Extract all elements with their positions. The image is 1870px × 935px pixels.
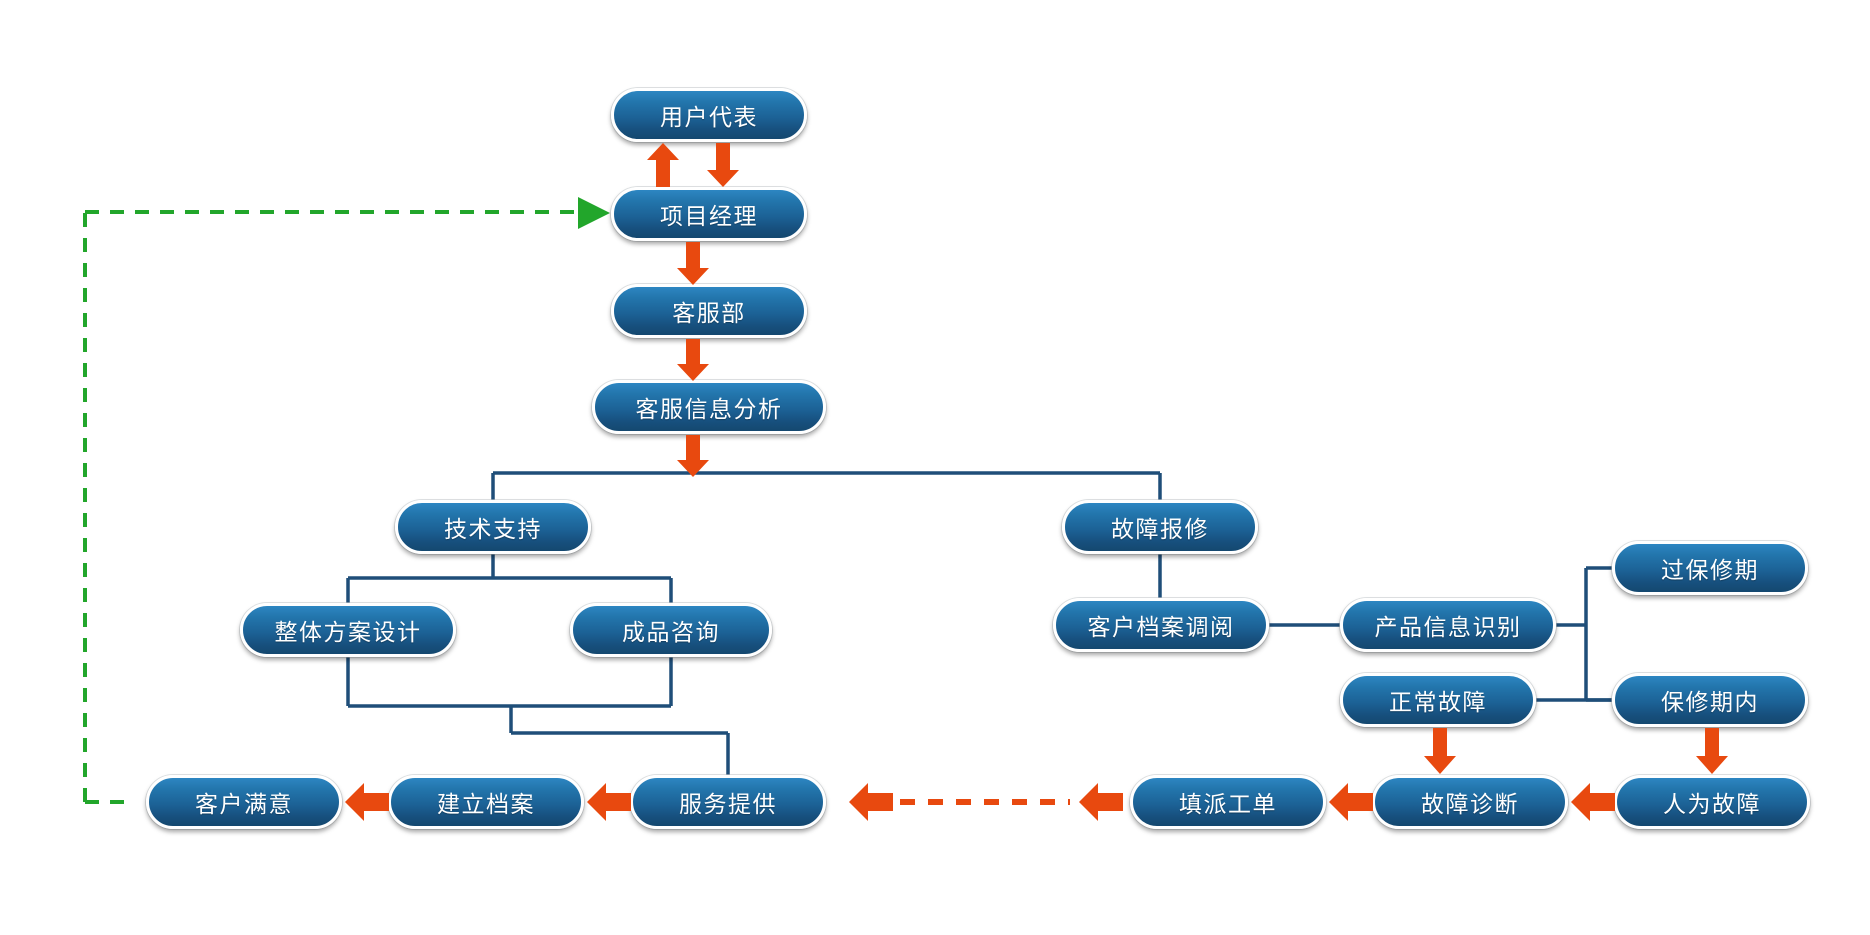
node-label: 故障报修	[1111, 510, 1209, 544]
node-label: 项目经理	[660, 197, 758, 231]
feedback-arrowhead-green	[578, 197, 610, 229]
node-label: 客服信息分析	[636, 390, 783, 424]
edge-tech-fork	[348, 554, 671, 603]
node-label: 故障诊断	[1421, 785, 1519, 819]
arrow-down-normalfault-to-diagnosis	[1423, 727, 1457, 775]
node-customer-satisfaction[interactable]: 客户满意	[146, 775, 342, 829]
node-label: 客服部	[672, 294, 746, 328]
node-fault-report[interactable]: 故障报修	[1062, 500, 1258, 554]
node-work-order[interactable]: 填派工单	[1130, 775, 1326, 829]
flowchart-canvas: 用户代表 项目经理 客服部 客服信息分析 技术支持 故障报修 整体方案设计 成品…	[0, 0, 1870, 935]
node-project-manager[interactable]: 项目经理	[611, 187, 807, 241]
arrow-down-dept-to-analysis	[676, 338, 710, 382]
arrow-down-user-to-pm	[706, 142, 740, 188]
node-fault-diagnosis[interactable]: 故障诊断	[1372, 775, 1568, 829]
node-label: 人为故障	[1663, 785, 1761, 819]
arrow-left-diagnosis-to-order	[1328, 780, 1374, 824]
node-info-analysis[interactable]: 客服信息分析	[592, 380, 826, 434]
node-label: 客户档案调阅	[1088, 608, 1235, 642]
node-file-retrieval[interactable]: 客户档案调阅	[1053, 598, 1269, 652]
arrow-down-analysis-to-fork	[676, 434, 710, 478]
node-product-consult[interactable]: 成品咨询	[570, 603, 772, 657]
node-human-fault[interactable]: 人为故障	[1614, 775, 1810, 829]
node-label: 产品信息识别	[1375, 608, 1522, 642]
arrow-left-human-to-diagnosis	[1570, 780, 1616, 824]
node-label: 服务提供	[679, 785, 777, 819]
node-product-identification[interactable]: 产品信息识别	[1340, 598, 1556, 652]
node-normal-fault[interactable]: 正常故障	[1340, 673, 1536, 727]
node-label: 成品咨询	[622, 613, 720, 647]
node-scheme-design[interactable]: 整体方案设计	[240, 603, 456, 657]
arrow-down-pm-to-dept	[676, 241, 710, 286]
node-label: 客户满意	[195, 785, 293, 819]
node-in-warranty[interactable]: 保修期内	[1612, 673, 1808, 727]
node-label: 整体方案设计	[275, 613, 422, 647]
arrow-left-file-to-satisfaction	[344, 780, 390, 824]
node-out-of-warranty[interactable]: 过保修期	[1612, 541, 1808, 595]
node-create-file[interactable]: 建立档案	[388, 775, 584, 829]
node-user-rep[interactable]: 用户代表	[611, 88, 807, 142]
arrow-left-dashed-head-order	[1078, 780, 1124, 824]
node-service-provide[interactable]: 服务提供	[630, 775, 826, 829]
arrow-left-service-to-file	[586, 780, 632, 824]
node-label: 建立档案	[437, 785, 535, 819]
arrow-up-pm-to-user	[646, 142, 680, 188]
node-label: 过保修期	[1661, 551, 1759, 585]
arrow-left-dashed-head-service	[848, 780, 894, 824]
node-label: 填派工单	[1179, 785, 1277, 819]
node-tech-support[interactable]: 技术支持	[395, 500, 591, 554]
edge-ident-fork	[1556, 568, 1612, 700]
node-label: 用户代表	[660, 98, 758, 132]
node-label: 保修期内	[1661, 683, 1759, 717]
edge-design-merge	[348, 657, 728, 775]
node-service-dept[interactable]: 客服部	[611, 284, 807, 338]
node-label: 正常故障	[1389, 683, 1487, 717]
node-label: 技术支持	[444, 510, 542, 544]
edge-analysis-fork	[493, 473, 1160, 500]
arrow-down-inwarranty-to-human	[1695, 727, 1729, 775]
